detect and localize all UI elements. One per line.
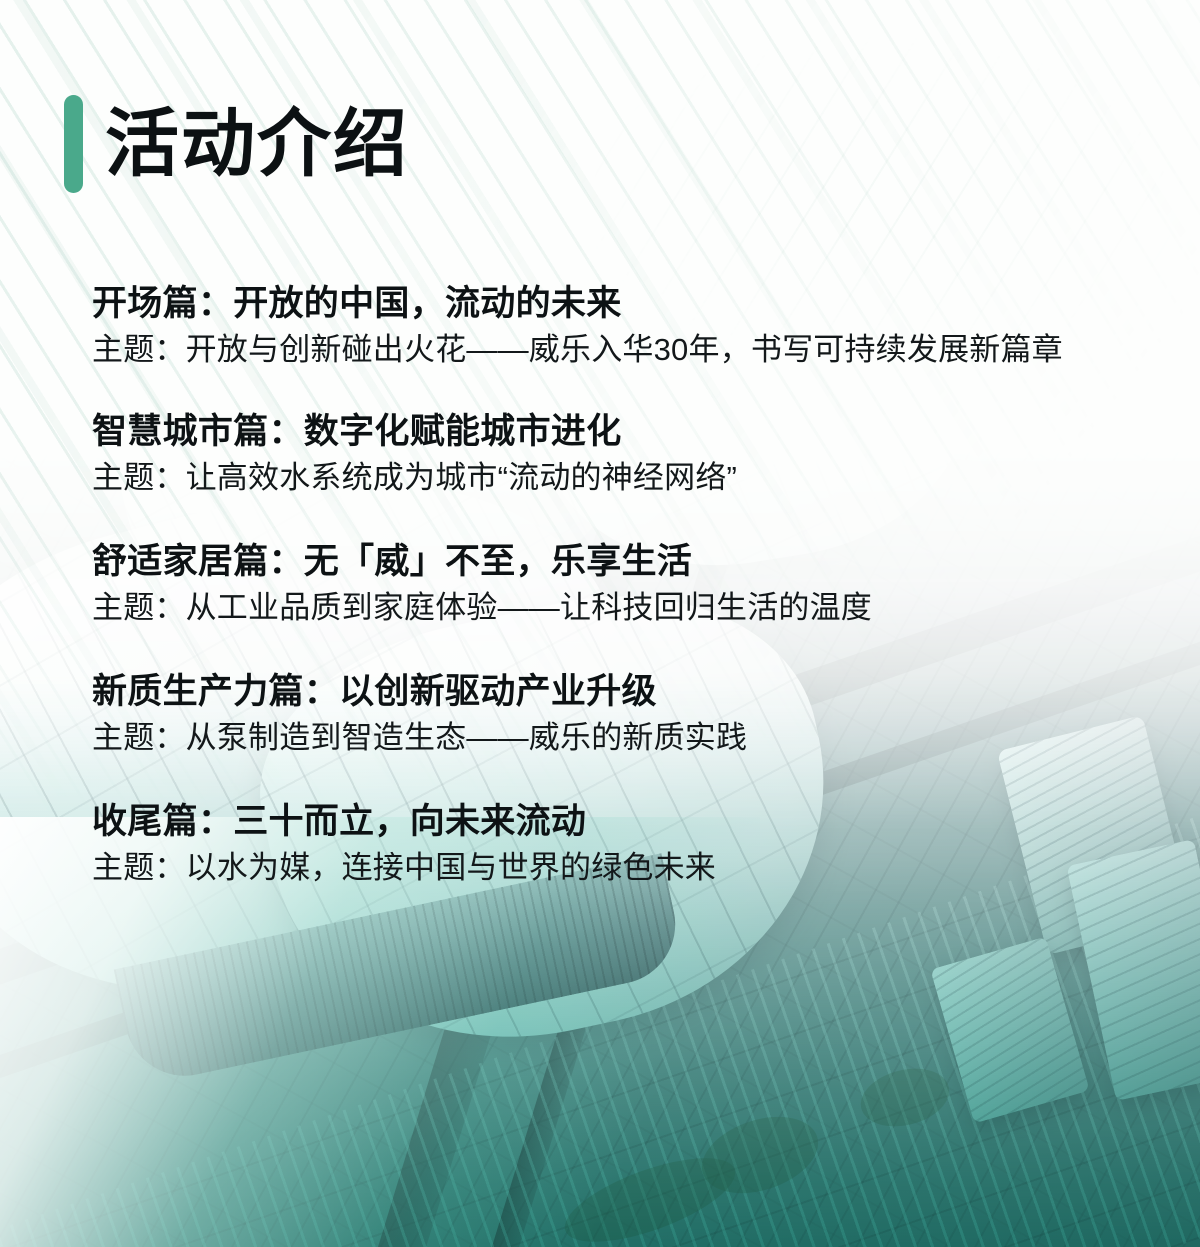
- section-item: 新质生产力篇：以创新驱动产业升级 主题：从泵制造到智造生态——威乐的新质实践: [92, 670, 1152, 758]
- section-subtitle: 主题：从泵制造到智造生态——威乐的新质实践: [92, 718, 1152, 758]
- section-heading: 收尾篇：三十而立，向未来流动: [92, 800, 1152, 845]
- section-heading: 新质生产力篇：以创新驱动产业升级: [92, 670, 1152, 715]
- page-title: 活动介绍: [64, 95, 409, 193]
- page-title-text: 活动介绍: [105, 107, 409, 181]
- section-subtitle: 主题：让高效水系统成为城市“流动的神经网络”: [92, 458, 1152, 498]
- poster-canvas: 活动介绍 开场篇：开放的中国，流动的未来 主题：开放与创新碰出火花——威乐入华3…: [0, 0, 1200, 1247]
- section-subtitle: 主题：开放与创新碰出火花——威乐入华30年，书写可持续发展新篇章: [92, 330, 1152, 370]
- section-heading: 智慧城市篇：数字化赋能城市进化: [92, 410, 1152, 455]
- section-heading: 舒适家居篇：无「威」不至，乐享生活: [92, 540, 1152, 585]
- section-list: 开场篇：开放的中国，流动的未来 主题：开放与创新碰出火花——威乐入华30年，书写…: [92, 282, 1152, 888]
- section-item: 智慧城市篇：数字化赋能城市进化 主题：让高效水系统成为城市“流动的神经网络”: [92, 410, 1152, 498]
- section-subtitle: 主题：从工业品质到家庭体验——让科技回归生活的温度: [92, 588, 1152, 628]
- section-item: 收尾篇：三十而立，向未来流动 主题：以水为媒，连接中国与世界的绿色未来: [92, 800, 1152, 888]
- title-accent-bar: [64, 95, 83, 193]
- section-subtitle: 主题：以水为媒，连接中国与世界的绿色未来: [92, 848, 1152, 888]
- section-item: 开场篇：开放的中国，流动的未来 主题：开放与创新碰出火花——威乐入华30年，书写…: [92, 282, 1152, 370]
- section-heading: 开场篇：开放的中国，流动的未来: [92, 282, 1152, 327]
- section-item: 舒适家居篇：无「威」不至，乐享生活 主题：从工业品质到家庭体验——让科技回归生活…: [92, 540, 1152, 628]
